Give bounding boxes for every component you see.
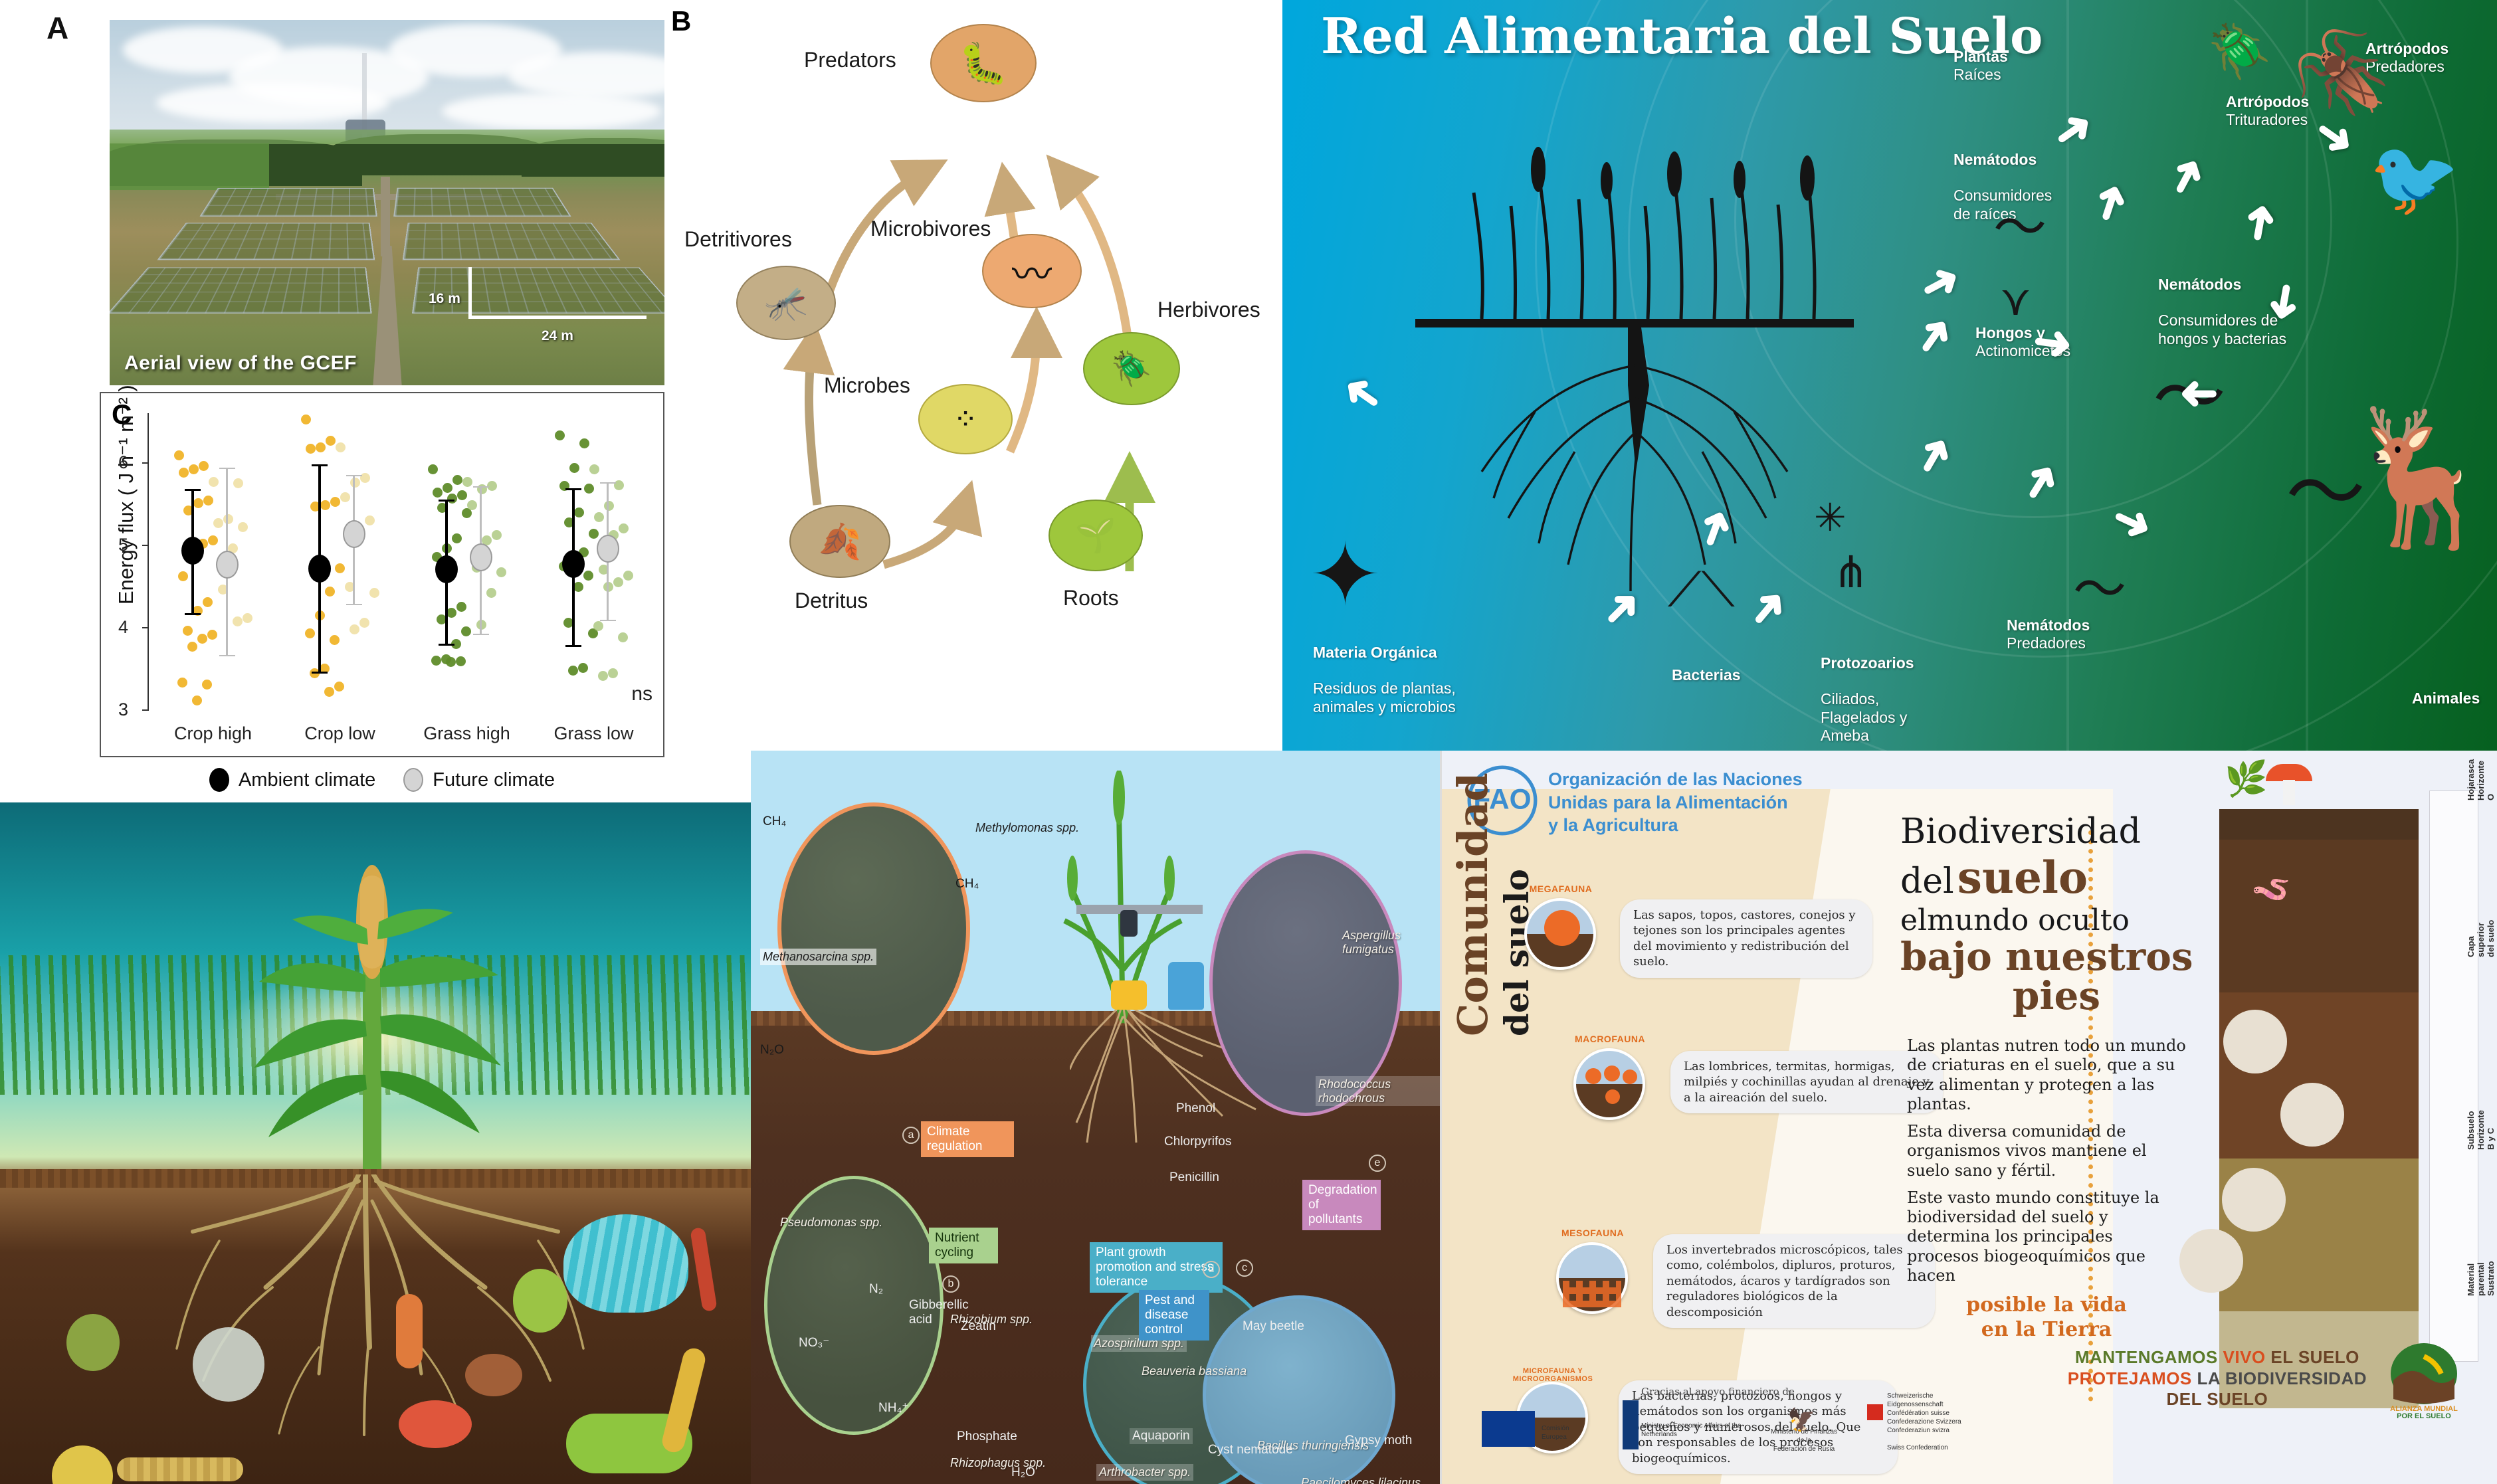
data-point bbox=[583, 571, 593, 581]
data-point bbox=[477, 484, 487, 494]
data-point bbox=[443, 483, 452, 493]
data-point bbox=[594, 512, 604, 522]
earthworm-illustration: 🪱 bbox=[2251, 870, 2291, 908]
chem-gibberellic-acid: Gibberellic acid bbox=[909, 1298, 966, 1327]
data-point bbox=[431, 656, 441, 666]
nematode-critter bbox=[117, 1457, 243, 1481]
gsp-logo-line2: POR EL SUELO bbox=[2397, 1412, 2451, 1419]
mean-marker bbox=[343, 520, 365, 548]
data-point bbox=[589, 529, 599, 539]
donor-switzerland: Schweizerische Eidgenossenschaft Confédé… bbox=[1887, 1392, 1987, 1452]
label-materia-organica: Materia Orgánica Residuos de plantas, an… bbox=[1313, 626, 1456, 716]
data-point bbox=[325, 587, 335, 597]
data-point bbox=[452, 475, 462, 485]
label-plantas: Plantas Raíces bbox=[1953, 48, 2008, 84]
node-detritus: 🍂 bbox=[789, 505, 890, 578]
fao-soil-biodiversity-poster: FAO Organización de las Naciones Unidas … bbox=[1442, 751, 2497, 1484]
mite-silhouette: ✳ bbox=[1814, 505, 1847, 532]
data-point bbox=[584, 484, 594, 494]
error-bar-cap bbox=[600, 620, 616, 621]
y-tick bbox=[142, 709, 149, 711]
legend-label-ambient: Ambient climate bbox=[239, 769, 375, 791]
callout-hongos bbox=[2179, 1229, 2243, 1293]
bird-silhouette: 🐦 bbox=[2369, 153, 2460, 204]
soil-layer-a-horizon bbox=[2219, 840, 2419, 992]
data-point bbox=[213, 518, 223, 528]
badge-macrofauna-ring bbox=[1573, 1048, 1645, 1120]
data-point bbox=[202, 680, 212, 690]
data-point bbox=[233, 616, 243, 626]
organic-matter-silhouette: ✦ bbox=[1309, 545, 1381, 605]
donor-russia-crest: 🦅 bbox=[1787, 1407, 1815, 1434]
chem-h2o: H₂O bbox=[1011, 1465, 1035, 1480]
data-point bbox=[461, 626, 471, 636]
data-point bbox=[428, 464, 438, 474]
food-web-arrows bbox=[664, 0, 1282, 744]
headline-line3-prefix: el bbox=[1900, 903, 1927, 937]
data-point bbox=[456, 602, 466, 612]
chem-n2o: N₂O bbox=[760, 1043, 784, 1058]
error-bar-cap bbox=[473, 486, 489, 488]
headline-line3: mundo oculto bbox=[1927, 903, 2130, 937]
error-bar-cap bbox=[219, 655, 235, 656]
maize-soil-biota-illustration bbox=[0, 802, 751, 1484]
data-point bbox=[614, 480, 624, 490]
label-animales-title: Animales bbox=[2412, 690, 2480, 707]
fao-headline: Biodiversidad del suelo elmundo oculto b… bbox=[1900, 812, 2213, 1016]
protozoa-critter bbox=[66, 1314, 120, 1371]
green-spore-critter bbox=[513, 1269, 567, 1333]
tag-degradation-pollutants: Degradation of pollutants bbox=[1302, 1180, 1381, 1230]
flow-arrow-16: ➜ bbox=[1332, 365, 1391, 426]
name-aspergillus: Aspergillus fumigatus bbox=[1342, 929, 1440, 956]
label-materia-organica-title: Materia Orgánica bbox=[1313, 644, 1456, 662]
data-point bbox=[177, 678, 187, 688]
detritus-icon: 🍂 bbox=[819, 521, 862, 562]
data-point bbox=[209, 477, 219, 487]
error-bar-cap bbox=[312, 464, 328, 466]
error-bar-cap bbox=[600, 482, 616, 484]
badge-macrofauna-label: MACROFAUNA bbox=[1563, 1034, 1657, 1044]
data-point bbox=[187, 642, 197, 652]
data-point bbox=[447, 608, 456, 618]
chem-phenol: Phenol bbox=[1176, 1101, 1215, 1116]
data-point bbox=[574, 508, 584, 517]
tag-pest-disease-control: Pest and disease control bbox=[1139, 1290, 1209, 1341]
x-axis-label: Crop high bbox=[147, 723, 280, 744]
badge-microfauna-label: MICROFAUNA Y MICROORGANISMOS bbox=[1506, 1367, 1600, 1383]
springtail-critter bbox=[396, 1294, 423, 1368]
label-microbivores: Microbivores bbox=[870, 217, 991, 241]
name-methylomonas: Methylomonas spp. bbox=[975, 821, 1079, 835]
label-roots: Roots bbox=[1063, 586, 1119, 610]
gcef-aerial-image: 16 m 24 m Aerial view of the GCEF bbox=[110, 20, 678, 385]
badge-megafauna-ring bbox=[1524, 898, 1596, 970]
fao-soil-profile-column: 🌿 🪱 bbox=[2219, 790, 2419, 1408]
protozoa-silhouette: ⋔ bbox=[1833, 557, 1869, 587]
label-bacterias: Bacterias bbox=[1672, 666, 1741, 684]
node-herbivores: 🪲 bbox=[1083, 332, 1180, 405]
data-point bbox=[207, 630, 217, 640]
ruler-label-bedrock: Material parental Sustrato rocoso bbox=[2466, 1261, 2497, 1296]
node-predators: 🐛 bbox=[930, 24, 1037, 102]
donor-netherlands: Ministry of Economic Affairs of the Neth… bbox=[1641, 1422, 1741, 1439]
label-nematodos-raices-title: Nemátodos bbox=[1953, 151, 2052, 169]
chem-ch4-1: CH₄ bbox=[763, 814, 786, 829]
root-icon: 🌱 bbox=[1075, 516, 1116, 555]
legend-label-future: Future climate bbox=[433, 769, 555, 791]
y-axis bbox=[148, 413, 149, 709]
y-tick-label: 5 bbox=[118, 535, 128, 555]
scale-label-16m: 16 m bbox=[429, 291, 460, 307]
ruler-label-o-horizon: Hojarasca Horizonte O bbox=[2466, 759, 2496, 800]
tag-nutrient-cycling: Nutrient cycling bbox=[929, 1228, 998, 1263]
error-bar-cap bbox=[473, 634, 489, 635]
error-bar-cap bbox=[346, 475, 362, 476]
label-predators: Predators bbox=[804, 48, 896, 72]
name-pseudomonas: Pseudomonas spp. bbox=[780, 1216, 882, 1230]
data-point bbox=[573, 582, 583, 592]
error-bar-cap bbox=[565, 645, 581, 647]
error-bar-cap bbox=[439, 644, 454, 646]
data-point bbox=[433, 488, 443, 498]
data-point bbox=[568, 666, 578, 676]
data-point bbox=[447, 494, 457, 504]
chem-nh4: NH₄⁺ bbox=[878, 1400, 908, 1416]
mean-marker bbox=[470, 543, 492, 571]
error-bar-cap bbox=[346, 604, 362, 605]
earthworm-blue-critter bbox=[563, 1214, 688, 1313]
y-tick bbox=[142, 627, 149, 628]
slogan-line2a: PROTEJAMOS bbox=[2068, 1368, 2197, 1388]
maize-root-system bbox=[140, 1174, 645, 1453]
data-point bbox=[305, 628, 315, 638]
data-point bbox=[330, 497, 340, 507]
fao-thanks-label: Gracias al apoyo financiero de bbox=[1641, 1386, 1795, 1398]
data-point bbox=[334, 682, 344, 692]
data-point bbox=[306, 444, 316, 454]
waste-bag-icon bbox=[1168, 962, 1204, 1010]
fungi-silhouette: ⋎ bbox=[2000, 286, 2031, 316]
data-point bbox=[452, 533, 462, 543]
error-bar-cap bbox=[565, 488, 581, 490]
chart-group-crop-low: Crop low bbox=[285, 413, 395, 709]
data-point bbox=[619, 523, 629, 533]
data-point bbox=[208, 535, 218, 545]
fao-organization-name: Organización de las Naciones Unidas para… bbox=[1548, 768, 1803, 837]
mean-marker bbox=[181, 537, 204, 565]
data-point bbox=[340, 492, 350, 502]
plant-roots-silhouette bbox=[1402, 100, 1880, 631]
data-point bbox=[199, 461, 209, 471]
y-tick-label: 4 bbox=[118, 617, 128, 638]
global-soil-partnership-logo: ALIANZA MUNDIAL POR EL SUELO bbox=[2384, 1339, 2464, 1419]
data-point bbox=[316, 442, 326, 452]
bubble-megafauna: Las sapos, topos, castores, conejos y te… bbox=[1620, 899, 1872, 978]
name-methanosarcina: Methanosarcina spp. bbox=[760, 949, 876, 965]
headline-line1: Biodiversidad bbox=[1900, 812, 2213, 852]
chem-phosphate: Phosphate bbox=[957, 1430, 1017, 1444]
x-axis-label: Crop low bbox=[274, 723, 407, 744]
isopod-icon: 🦟 bbox=[765, 283, 808, 324]
error-bar-cap bbox=[439, 500, 454, 502]
label-plantas-sub: Raíces bbox=[1953, 66, 2001, 83]
chart-group-grass-high: Grass high bbox=[412, 413, 522, 709]
chem-ch4-2: CH₄ bbox=[955, 877, 979, 891]
badge-mesofauna-label: MESOFAUNA bbox=[1546, 1228, 1640, 1238]
maize-plant bbox=[213, 842, 532, 1181]
node-roots: 🌱 bbox=[1049, 500, 1143, 571]
y-tick-label: 6 bbox=[118, 452, 128, 473]
chem-chlorpyrifos: Chlorpyrifos bbox=[1164, 1135, 1231, 1149]
data-point bbox=[462, 477, 472, 487]
fungal-spore-critter bbox=[465, 1354, 522, 1396]
arthropod-predator-silhouette: 🪳 bbox=[2292, 45, 2391, 101]
x-axis-label: Grass low bbox=[528, 723, 660, 744]
deer-silhouette: 🦌 bbox=[2339, 432, 2497, 525]
fao-body-highlight: posible la vida en la Tierra bbox=[1907, 1293, 2186, 1342]
fao-body-p2: Esta diversa comunidad de organismos viv… bbox=[1907, 1122, 2186, 1180]
scale-bar-horizontal bbox=[468, 316, 647, 319]
data-point bbox=[336, 442, 346, 452]
data-point bbox=[579, 438, 589, 448]
data-point bbox=[623, 571, 633, 581]
error-bar-cap bbox=[185, 613, 201, 615]
headline-line4: bajo nuestros bbox=[1900, 937, 2213, 976]
sprinkler-icon bbox=[1076, 905, 1203, 914]
headline-line2: suelo bbox=[1957, 852, 2088, 903]
slogan-line3: DEL SUELO bbox=[2068, 1389, 2367, 1410]
data-point bbox=[467, 500, 477, 510]
arthropod-shredder-silhouette: 🪲 bbox=[2207, 33, 2272, 70]
legend-item-ambient: Ambient climate bbox=[209, 768, 375, 792]
chart-group-grass-low: Grass low bbox=[539, 413, 649, 709]
callout-nodulos bbox=[2223, 1010, 2287, 1073]
yellow-rod-bacterium bbox=[660, 1346, 708, 1454]
name-arthrobacter: Arthrobacter spp. bbox=[1096, 1464, 1193, 1481]
data-point bbox=[457, 490, 467, 500]
label-microbes: Microbes bbox=[824, 373, 910, 398]
label-bacterias-title: Bacterias bbox=[1672, 666, 1741, 684]
label-herbivores: Herbivores bbox=[1157, 298, 1260, 322]
data-point bbox=[203, 496, 213, 506]
data-point bbox=[446, 657, 456, 667]
chem-penicillin: Penicillin bbox=[1169, 1170, 1219, 1185]
marker-a: a bbox=[902, 1127, 920, 1144]
label-detritus: Detritus bbox=[795, 589, 868, 613]
chart-group-crop-high: Crop high bbox=[158, 413, 268, 709]
diatom-critter bbox=[52, 1445, 113, 1484]
label-nematodos-predadores: Nemátodos Predadores bbox=[2007, 616, 2090, 652]
fao-slogan: MANTENGAMOS VIVO EL SUELO PROTEJAMOS LA … bbox=[2068, 1347, 2367, 1410]
slogan-line1b: VIVO bbox=[2223, 1347, 2271, 1367]
data-point bbox=[350, 478, 360, 488]
tag-climate-regulation: Climate regulation bbox=[921, 1121, 1014, 1157]
fao-vertical-title: Comunidad del suelo bbox=[1448, 810, 1536, 1036]
pest-cyst-nematode: Cyst nematode bbox=[1208, 1443, 1293, 1457]
mean-marker bbox=[308, 555, 331, 583]
soil-layer-o-horizon bbox=[2219, 809, 2419, 840]
label-nematodos-predadores-title: Nemátodos bbox=[2007, 616, 2090, 634]
data-point bbox=[618, 632, 628, 642]
node-detritivores: 🦟 bbox=[736, 266, 836, 340]
amoeba-critter bbox=[193, 1327, 264, 1402]
data-point bbox=[238, 522, 248, 532]
waste-barrel-icon bbox=[1111, 980, 1147, 1010]
label-materia-organica-sub: Residuos de plantas, animales y microbio… bbox=[1313, 680, 1456, 715]
data-point bbox=[174, 450, 184, 460]
data-point bbox=[233, 478, 243, 488]
label-protozoarios-title: Protozoarios bbox=[1821, 654, 1914, 672]
pest-may-beetle: May beetle bbox=[1243, 1319, 1304, 1334]
ruler-label-b-horizon: Subsuelo Horizonte B y C bbox=[2466, 1110, 2496, 1150]
chem-zeatin: Zeatin bbox=[961, 1319, 996, 1334]
data-point bbox=[324, 687, 334, 697]
flow-arrow-13: ➜ bbox=[2259, 279, 2312, 325]
donor-comision-europea: Comisión Europea bbox=[1542, 1424, 1569, 1441]
bubble-mesofauna: Los invertebrados microscópicos, tales c… bbox=[1653, 1234, 1935, 1328]
legend-swatch-ambient bbox=[209, 768, 229, 792]
nematode-icon: 〰 bbox=[1012, 242, 1052, 300]
data-point bbox=[189, 464, 199, 474]
data-point bbox=[369, 588, 379, 598]
flow-arrow-6: ➜ bbox=[2030, 316, 2075, 367]
slogan-line2b: LA BIODIVERSIDAD bbox=[2197, 1368, 2367, 1388]
fao-body-p3: Este vasto mundo constituye la biodivers… bbox=[1907, 1188, 2186, 1285]
chem-n2: N₂ bbox=[869, 1282, 883, 1297]
data-point bbox=[330, 635, 340, 645]
label-animales: Animales bbox=[2412, 690, 2480, 707]
panel-b-food-web-diagram: B 🐛 Predators 🦟 Detritivores 〰 Microbivo… bbox=[664, 0, 1282, 744]
data-point bbox=[179, 468, 189, 478]
plant-sprout-icon: 🌿 bbox=[2225, 759, 2268, 799]
legend-item-future: Future climate bbox=[403, 768, 555, 792]
label-detritivores: Detritivores bbox=[684, 227, 792, 252]
plot-area: 3456Crop highCrop lowGrass highGrass low bbox=[148, 413, 655, 709]
centipede-icon: 🐛 bbox=[959, 40, 1009, 87]
data-point bbox=[555, 430, 565, 440]
data-point bbox=[193, 498, 203, 508]
data-point bbox=[589, 464, 599, 474]
data-point bbox=[192, 696, 202, 705]
ruler-label-a-horizon: Capa superior del suelo Horizonte A bbox=[2466, 917, 2497, 957]
mite-critter bbox=[399, 1400, 472, 1448]
error-bar-cap bbox=[312, 672, 328, 674]
data-point bbox=[335, 563, 345, 573]
data-point bbox=[456, 656, 466, 666]
nematode-silhouette-1: 〜 bbox=[1993, 209, 2047, 246]
legend-swatch-future bbox=[403, 768, 423, 792]
badge-megafauna-label: MEGAFAUNA bbox=[1514, 883, 1608, 894]
error-bar-cap bbox=[185, 489, 201, 491]
data-point bbox=[350, 624, 359, 634]
y-tick bbox=[142, 462, 149, 464]
panel-a-letter: A bbox=[47, 10, 68, 46]
panel-a-aerial-photo: A 16 m 24 m Aerial view of the GCEF bbox=[40, 7, 678, 392]
chem-no3: NO₃⁻ bbox=[799, 1335, 829, 1350]
bacteria-icon: ⁘ bbox=[953, 403, 978, 436]
slogan-line1a: MANTENGAMOS bbox=[2075, 1347, 2223, 1367]
error-bar-cap bbox=[219, 468, 235, 469]
badge-mesofauna-ring bbox=[1556, 1242, 1628, 1314]
data-point bbox=[203, 597, 213, 607]
donor-netherlands-mark bbox=[1623, 1400, 1639, 1449]
chem-aquaporin: Aquaporin bbox=[1130, 1428, 1193, 1444]
panel-c-energy-flux-chart: C Energy flux ( J h⁻¹ m⁻² ) 3456Crop hig… bbox=[100, 392, 664, 757]
data-point bbox=[223, 514, 233, 524]
mean-marker bbox=[597, 535, 619, 563]
label-protozoarios-sub: Ciliados, Flagelados y Ameba bbox=[1821, 690, 1907, 743]
data-point bbox=[243, 613, 252, 623]
data-point bbox=[608, 668, 618, 678]
scale-label-24m: 24 m bbox=[542, 328, 573, 344]
fao-soil-depth-ruler: Hojarasca Horizonte O Capa superior del … bbox=[2429, 790, 2478, 1362]
bacteria-silhouette: ⟋⟍ bbox=[1668, 571, 1735, 610]
mean-marker bbox=[216, 551, 239, 579]
data-point bbox=[183, 626, 193, 636]
marker-d: d bbox=[1203, 1261, 1220, 1278]
marker-e: e bbox=[1369, 1155, 1386, 1172]
data-point bbox=[569, 463, 579, 473]
name-beauveria: Beauveria bassiana bbox=[1142, 1364, 1247, 1378]
pest-gypsy-moth: Gypsy moth bbox=[1345, 1434, 1412, 1448]
data-point bbox=[178, 571, 188, 581]
data-point bbox=[593, 621, 603, 631]
data-point bbox=[578, 663, 588, 673]
fao-body-text: Las plantas nutren todo un mundo de cria… bbox=[1907, 1036, 2186, 1342]
label-protozoarios: Protozoarios Ciliados, Flagelados y Ameb… bbox=[1821, 636, 1914, 745]
fao-body-p1: Las plantas nutren todo un mundo de cria… bbox=[1907, 1036, 2186, 1114]
data-point bbox=[360, 473, 370, 483]
soil-food-web-poster-spanish: Red Alimentaria del Suelo bbox=[1282, 0, 2497, 751]
bubble-macrofauna: Las lombrices, termitas, hormigas, milpi… bbox=[1670, 1051, 1943, 1113]
beetle-icon: 🪲 bbox=[1111, 349, 1152, 389]
name-rhodococcus: Rhodococcus rhodochrous bbox=[1316, 1076, 1440, 1106]
callout-bacterias bbox=[2222, 1168, 2286, 1232]
data-point bbox=[197, 634, 207, 644]
panel-a-caption: Aerial view of the GCEF bbox=[124, 352, 357, 375]
data-point bbox=[613, 577, 623, 587]
data-point bbox=[598, 671, 608, 681]
marker-b: b bbox=[942, 1275, 959, 1293]
label-nematodos-predadores-sub: Predadores bbox=[2007, 634, 2086, 652]
data-point bbox=[365, 515, 375, 525]
headline-line2-prefix: del bbox=[1900, 862, 1954, 901]
red-worm-critter bbox=[690, 1227, 717, 1312]
callout-acaros-nematodo bbox=[2280, 1083, 2344, 1147]
y-tick-label: 3 bbox=[118, 699, 128, 720]
chart-legend: Ambient climate Future climate bbox=[100, 757, 664, 802]
rhizosphere-functions-diagram: Methylomonas spp. Methanosarcina spp. CH… bbox=[751, 751, 1442, 1484]
data-point bbox=[496, 567, 506, 577]
circle-climate-regulation bbox=[777, 802, 970, 1055]
data-point bbox=[320, 500, 330, 510]
data-point bbox=[301, 415, 311, 424]
data-point bbox=[326, 436, 336, 446]
label-plantas-title: Plantas bbox=[1953, 48, 2008, 66]
mean-marker bbox=[435, 555, 458, 583]
poster-title: Red Alimentaria del Suelo bbox=[1321, 8, 2043, 65]
flow-arrow-11: ➜ bbox=[2233, 199, 2285, 246]
nematode-silhouette-4: 〜 bbox=[2073, 571, 2126, 608]
node-microbivores: 〰 bbox=[982, 234, 1082, 308]
name-paecilomyces: Paecilomyces lilacinus bbox=[1301, 1476, 1421, 1484]
donor-swiss-cross bbox=[1867, 1404, 1883, 1420]
data-point bbox=[486, 588, 496, 598]
y-tick bbox=[142, 545, 149, 546]
scale-bar-vertical bbox=[468, 267, 472, 319]
node-microbes: ⁘ bbox=[918, 384, 1013, 454]
